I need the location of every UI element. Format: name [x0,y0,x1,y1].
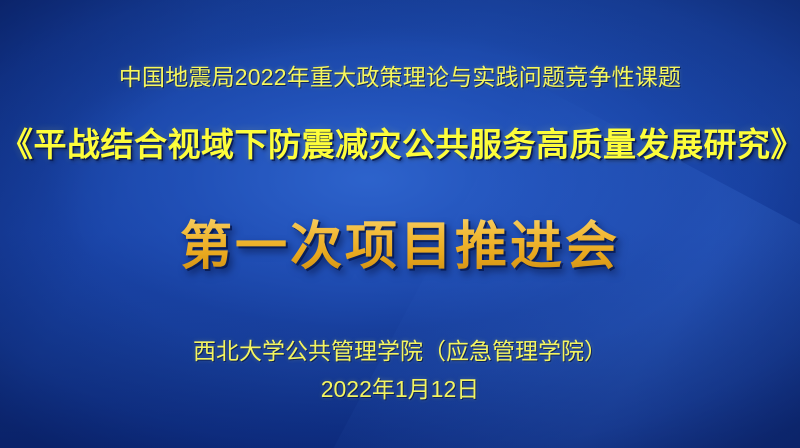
program-line: 中国地震局2022年重大政策理论与实践问题竞争性课题 [0,64,800,92]
organization-line: 西北大学公共管理学院（应急管理学院） [0,338,800,366]
presentation-title-slide: 中国地震局2022年重大政策理论与实践问题竞争性课题 《平战结合视域下防震减灾公… [0,0,800,448]
project-title: 《平战结合视域下防震减灾公共服务高质量发展研究》 [0,125,800,165]
date-line: 2022年1月12日 [0,376,800,404]
meeting-headline: 第一次项目推进会 [0,214,800,279]
slide-content: 中国地震局2022年重大政策理论与实践问题竞争性课题 《平战结合视域下防震减灾公… [0,0,800,448]
